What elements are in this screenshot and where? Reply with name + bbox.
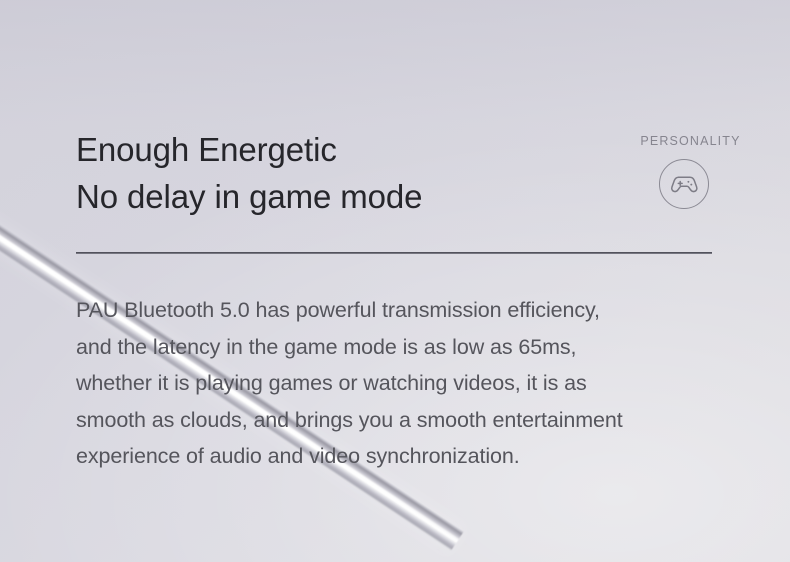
personality-badge: PERSONALITY: [612, 134, 757, 148]
badge-circle-outline: [659, 159, 709, 209]
page-title: Enough Energetic No delay in game mode: [76, 126, 422, 220]
divider-rule: [76, 252, 712, 254]
feature-panel: Enough Energetic No delay in game mode P…: [0, 0, 790, 562]
gamepad-icon: [669, 173, 699, 195]
body-line-3: whether it is playing games or watching …: [76, 365, 726, 402]
headline-line-2: No delay in game mode: [76, 173, 422, 220]
headline-line-1: Enough Energetic: [76, 126, 422, 173]
body-line-2: and the latency in the game mode is as l…: [76, 329, 726, 366]
body-paragraph: PAU Bluetooth 5.0 has powerful transmiss…: [76, 292, 726, 475]
panel-content: Enough Energetic No delay in game mode P…: [0, 0, 790, 562]
body-line-4: smooth as clouds, and brings you a smoot…: [76, 402, 726, 439]
badge-label: PERSONALITY: [624, 134, 757, 148]
body-line-1: PAU Bluetooth 5.0 has powerful transmiss…: [76, 292, 726, 329]
body-line-5: experience of audio and video synchroniz…: [76, 438, 726, 475]
